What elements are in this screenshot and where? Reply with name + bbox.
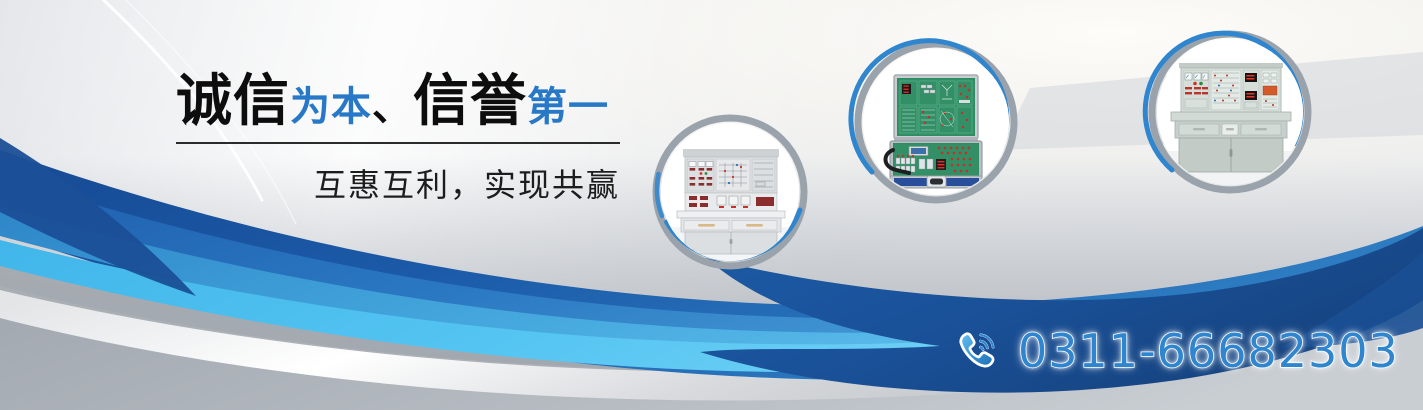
phone-number[interactable]: 0311-66682303 — [1018, 324, 1399, 378]
slogan-headline: 诚信为本、信誉第一 — [176, 72, 620, 132]
phone-icon — [952, 325, 1004, 377]
slogan-part-diyi: 第一 — [527, 84, 609, 130]
slogan-part-xinyu: 信誉 — [413, 69, 527, 134]
electrical-training-bench-icon — [1157, 39, 1303, 185]
contact-block[interactable]: 0311-66682303 — [952, 324, 1399, 378]
product-image-3 — [1157, 39, 1303, 185]
product-image-1 — [661, 123, 799, 261]
portable-training-case-icon — [863, 49, 1009, 195]
slogan-part-chengxin: 诚信 — [176, 69, 290, 134]
slogan-subtitle: 互惠互利，实现共赢 — [176, 160, 620, 206]
product-circle-3[interactable] — [1146, 28, 1314, 196]
slogan-separator: 、 — [372, 84, 413, 130]
product-image-2 — [863, 49, 1009, 195]
product-circle-1[interactable] — [650, 112, 810, 272]
slogan-divider — [176, 142, 620, 144]
product-circle-2[interactable] — [852, 38, 1020, 206]
lab-workbench-icon — [661, 123, 799, 261]
slogan-part-weiben: 为本 — [290, 84, 372, 130]
slogan-block: 诚信为本、信誉第一 互惠互利，实现共赢 — [176, 72, 620, 206]
promo-banner: 诚信为本、信誉第一 互惠互利，实现共赢 — [0, 0, 1423, 410]
